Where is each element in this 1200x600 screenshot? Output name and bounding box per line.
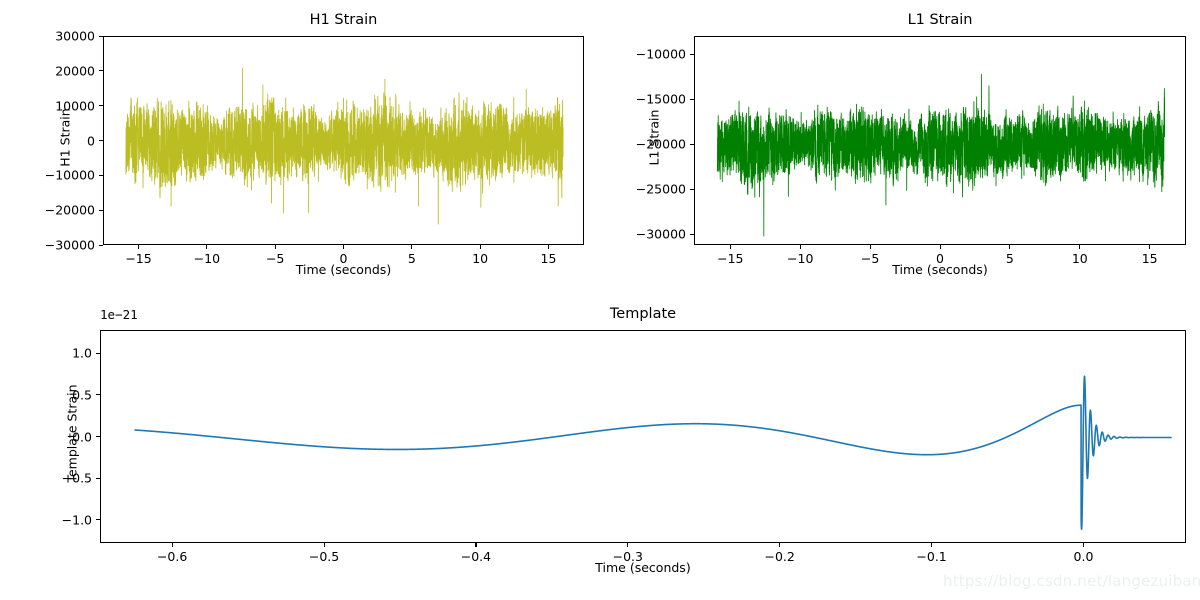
y-tick-label: 30000 <box>35 29 95 44</box>
x-tick-label: 0 <box>936 251 944 266</box>
y-tick-mark <box>690 99 694 100</box>
y-tick-label: 0.5 <box>54 387 92 402</box>
x-tick-mark <box>548 245 549 249</box>
l1-panel-title: L1 Strain <box>694 12 1186 28</box>
x-tick-label: 0 <box>340 251 348 266</box>
y-tick-label: 0.0 <box>54 429 92 444</box>
y-tick-mark <box>99 210 103 211</box>
template-waveform-line <box>135 376 1171 529</box>
x-tick-mark <box>480 245 481 249</box>
x-tick-label: −0.4 <box>461 549 491 564</box>
x-tick-label: 15 <box>1142 251 1158 266</box>
x-tick-label: −10 <box>194 251 220 266</box>
x-tick-label: −0.5 <box>309 549 339 564</box>
y-tick-mark <box>690 54 694 55</box>
h1-strain-axes <box>103 36 584 245</box>
y-tick-mark <box>96 353 100 354</box>
y-tick-label: −0.5 <box>54 471 92 486</box>
y-tick-mark <box>690 234 694 235</box>
x-tick-mark <box>940 245 941 249</box>
x-tick-label: −15 <box>717 251 743 266</box>
x-tick-mark <box>730 245 731 249</box>
x-tick-mark <box>931 543 932 547</box>
h1-strain-trace <box>104 37 584 245</box>
y-tick-mark <box>99 36 103 37</box>
matplotlib-figure: H1 Strain Time (seconds) H1 Strain −15−1… <box>0 0 1200 600</box>
template-yaxis-offset-label: 1e−21 <box>100 307 138 322</box>
template-trace <box>101 331 1186 543</box>
y-tick-mark <box>96 478 100 479</box>
y-tick-label: −10000 <box>616 47 686 62</box>
x-tick-label: 5 <box>408 251 416 266</box>
y-tick-label: −1.0 <box>54 512 92 527</box>
y-tick-label: −30000 <box>35 238 95 253</box>
template-panel-title: Template <box>100 306 1186 322</box>
y-tick-label: −10000 <box>35 168 95 183</box>
x-tick-label: −15 <box>125 251 151 266</box>
x-tick-mark <box>870 245 871 249</box>
h1-strain-line <box>126 68 563 224</box>
y-tick-mark <box>99 175 103 176</box>
y-tick-label: 0 <box>35 133 95 148</box>
x-tick-mark <box>1083 543 1084 547</box>
x-tick-mark <box>1149 245 1150 249</box>
y-tick-label: 10000 <box>35 98 95 113</box>
x-tick-mark <box>172 543 173 547</box>
x-tick-label: 15 <box>541 251 557 266</box>
x-tick-mark <box>800 245 801 249</box>
y-tick-mark <box>99 140 103 141</box>
l1-strain-line <box>717 74 1164 236</box>
y-tick-mark <box>99 105 103 106</box>
l1-strain-trace <box>695 37 1186 245</box>
template-axes <box>100 330 1186 543</box>
y-tick-mark <box>96 394 100 395</box>
x-tick-label: −0.6 <box>157 549 187 564</box>
y-tick-mark <box>96 519 100 520</box>
x-tick-label: 10 <box>472 251 488 266</box>
csdn-watermark: https://blog.csdn.net/langezuibang <box>943 572 1200 590</box>
y-tick-label: 1.0 <box>54 346 92 361</box>
x-tick-mark <box>475 543 476 547</box>
y-tick-label: −25000 <box>616 182 686 197</box>
x-tick-mark <box>275 245 276 249</box>
x-tick-label: 5 <box>1006 251 1014 266</box>
x-tick-mark <box>627 543 628 547</box>
y-tick-mark <box>99 245 103 246</box>
y-tick-label: −30000 <box>616 227 686 242</box>
x-tick-label: −10 <box>787 251 813 266</box>
x-tick-label: −0.3 <box>613 549 643 564</box>
x-tick-mark <box>779 543 780 547</box>
y-tick-mark <box>96 436 100 437</box>
x-tick-mark <box>324 543 325 547</box>
x-tick-mark <box>1079 245 1080 249</box>
y-tick-label: −20000 <box>616 137 686 152</box>
x-tick-label: −5 <box>266 251 284 266</box>
x-tick-mark <box>206 245 207 249</box>
y-tick-mark <box>690 144 694 145</box>
x-tick-mark <box>138 245 139 249</box>
x-tick-label: −0.2 <box>765 549 795 564</box>
h1-panel-title: H1 Strain <box>103 12 584 28</box>
x-tick-mark <box>343 245 344 249</box>
x-tick-label: −5 <box>861 251 879 266</box>
y-tick-mark <box>690 189 694 190</box>
y-tick-label: −15000 <box>616 92 686 107</box>
l1-strain-axes <box>694 36 1186 245</box>
y-tick-label: 20000 <box>35 63 95 78</box>
x-tick-label: 0.0 <box>1074 549 1094 564</box>
x-tick-label: 10 <box>1072 251 1088 266</box>
y-tick-label: −20000 <box>35 203 95 218</box>
y-tick-mark <box>99 70 103 71</box>
x-tick-mark <box>1009 245 1010 249</box>
x-tick-mark <box>411 245 412 249</box>
x-tick-label: −0.1 <box>916 549 946 564</box>
